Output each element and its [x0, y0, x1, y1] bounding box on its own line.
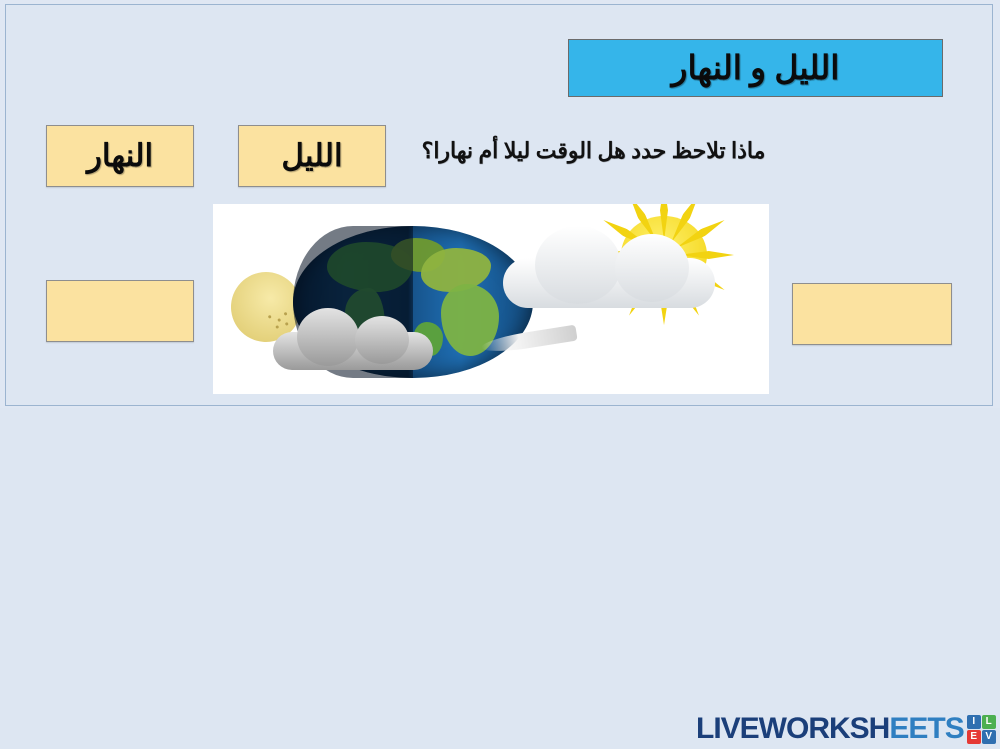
page-title: الليل و النهار	[672, 48, 840, 88]
answer-drop-zone-left[interactable]	[46, 280, 194, 342]
worksheet-page: الليل و النهار ماذا تلاحظ حدد هل الوقت ل…	[0, 0, 1000, 749]
section-two-panel: تشير النجمة الى دولة الامارات فهل الوقت …	[0, 408, 1000, 749]
logo-tile-e: E	[967, 730, 981, 744]
earth-day-night-illustration	[213, 204, 769, 394]
answer-chip-label: النهار	[87, 138, 153, 174]
wordmark-primary: LIVEWORKSH	[696, 712, 889, 745]
worksheet-title-banner: الليل و النهار	[568, 39, 943, 97]
liveworksheets-wordmark: LIVEWORKSHEETS	[696, 712, 964, 746]
answer-chip-nahar[interactable]: النهار	[46, 125, 194, 187]
wordmark-accent: EETS	[889, 712, 963, 745]
section-one-panel: الليل و النهار ماذا تلاحظ حدد هل الوقت ل…	[5, 4, 993, 406]
section-one-question: ماذا تلاحظ حدد هل الوقت ليلا أم نهارا؟	[381, 135, 806, 167]
answer-chip-label: الليل	[281, 138, 342, 174]
logo-tile-v: V	[982, 730, 996, 744]
logo-tile-l: L	[982, 715, 996, 729]
liveworksheets-watermark: L I V E LIVEWORKSHEETS	[696, 712, 996, 746]
answer-drop-zone-right[interactable]	[792, 283, 952, 345]
logo-tile-i: I	[967, 715, 981, 729]
answer-chip-layl[interactable]: الليل	[238, 125, 386, 187]
liveworksheets-logo-icon: L I V E	[967, 715, 996, 744]
white-cloud-icon	[503, 258, 715, 308]
dark-cloud-icon	[273, 332, 433, 370]
